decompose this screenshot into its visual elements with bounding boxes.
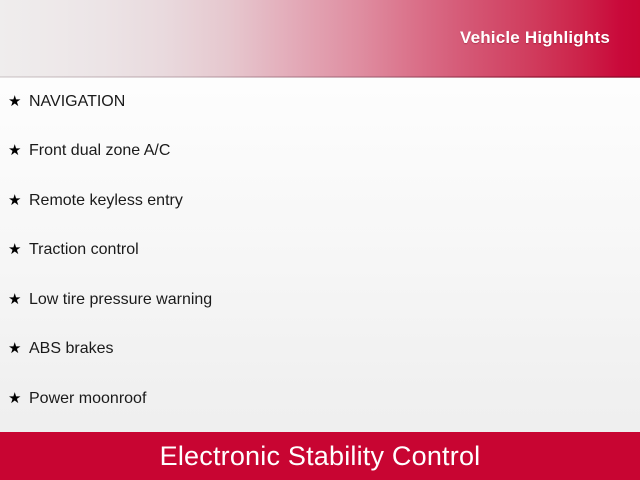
list-item: ★ Traction control bbox=[0, 226, 640, 276]
list-item-label: Power moonroof bbox=[29, 390, 146, 408]
star-icon: ★ bbox=[8, 391, 22, 406]
list-item-label: Low tire pressure warning bbox=[29, 291, 212, 309]
list-item: ★ NAVIGATION bbox=[0, 77, 640, 127]
star-icon: ★ bbox=[8, 193, 22, 208]
list-item-label: Front dual zone A/C bbox=[29, 142, 170, 160]
list-item: ★ Low tire pressure warning bbox=[0, 275, 640, 325]
list-item-label: ABS brakes bbox=[29, 340, 113, 358]
vehicle-highlights-list: ★ NAVIGATION ★ Front dual zone A/C ★ Rem… bbox=[0, 77, 640, 432]
footer-title: Electronic Stability Control bbox=[160, 441, 481, 472]
star-icon: ★ bbox=[8, 242, 22, 257]
star-icon: ★ bbox=[8, 143, 22, 158]
star-icon: ★ bbox=[8, 94, 22, 109]
star-icon: ★ bbox=[8, 341, 22, 356]
list-item-label: Traction control bbox=[29, 241, 139, 259]
page-title: Vehicle Highlights bbox=[460, 28, 610, 48]
list-item-label: Remote keyless entry bbox=[29, 192, 183, 210]
footer-banner: Electronic Stability Control bbox=[0, 432, 640, 480]
header-banner: Vehicle Highlights bbox=[0, 0, 640, 77]
star-icon: ★ bbox=[8, 292, 22, 307]
vehicle-highlights-slide: Vehicle Highlights ★ NAVIGATION ★ Front … bbox=[0, 0, 640, 480]
list-item: ★ Front dual zone A/C bbox=[0, 127, 640, 177]
list-item: ★ Power moonroof bbox=[0, 374, 640, 424]
list-item: ★ Remote keyless entry bbox=[0, 176, 640, 226]
list-item: ★ ABS brakes bbox=[0, 325, 640, 375]
list-item-label: NAVIGATION bbox=[29, 93, 125, 111]
